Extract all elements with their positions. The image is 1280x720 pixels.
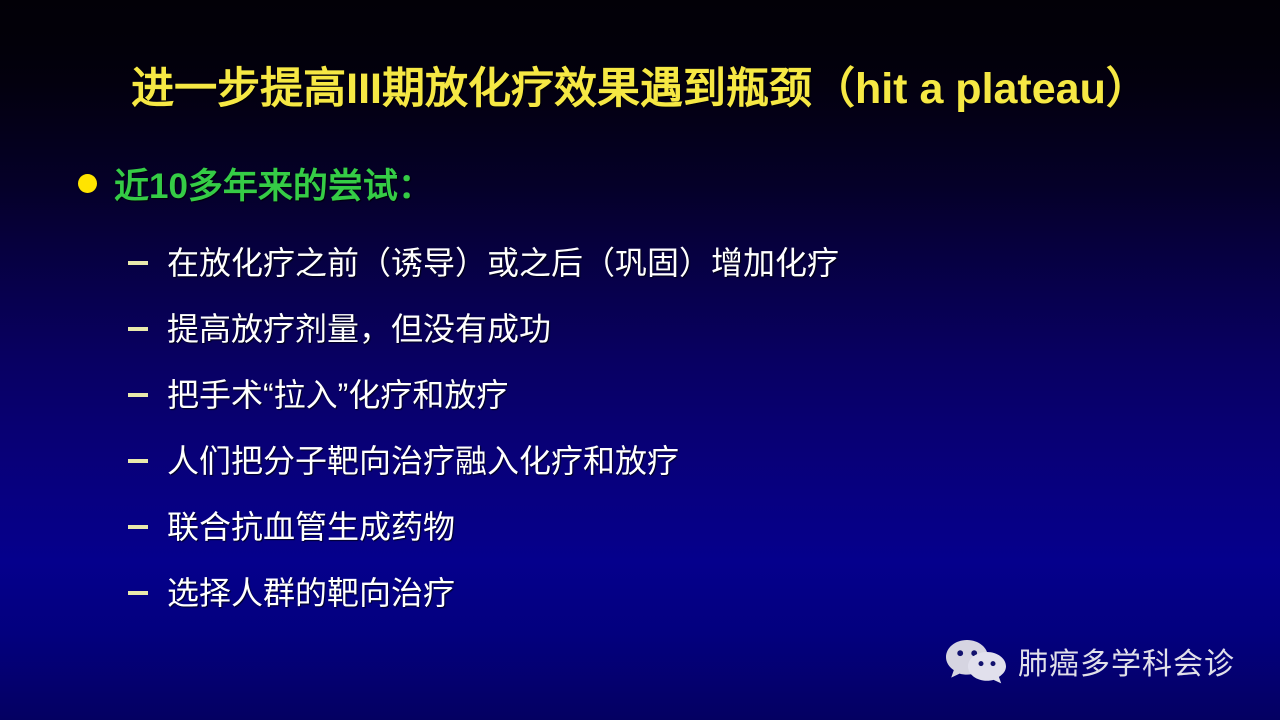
dash-bullet-icon bbox=[128, 459, 148, 463]
list-item-label: 选择人群的靶向治疗 bbox=[167, 568, 455, 614]
list-item: 在放化疗之前（诱导）或之后（巩固）增加化疗 bbox=[128, 228, 1128, 294]
list-item: 提高放疗剂量，但没有成功 bbox=[128, 294, 1128, 360]
dash-bullet-icon bbox=[128, 393, 148, 397]
list-item-label: 人们把分子靶向治疗融入化疗和放疗 bbox=[167, 436, 679, 482]
list-item: 选择人群的靶向治疗 bbox=[128, 558, 1128, 624]
dash-bullet-icon bbox=[128, 261, 148, 265]
wechat-logo-icon bbox=[946, 638, 1008, 684]
dash-bullet-icon bbox=[128, 525, 148, 529]
level1-bullet-label: 近10多年来的尝试： bbox=[114, 158, 433, 209]
sub-bullet-list: 在放化疗之前（诱导）或之后（巩固）增加化疗 提高放疗剂量，但没有成功 把手术“拉… bbox=[128, 228, 1128, 624]
wechat-watermark: 肺癌多学科会诊 bbox=[946, 638, 1235, 684]
level1-bullet-item: 近10多年来的尝试： bbox=[78, 158, 433, 209]
presentation-slide: 进一步提高III期放化疗效果遇到瓶颈（hit a plateau） 近10多年来… bbox=[0, 0, 1280, 720]
dash-bullet-icon bbox=[128, 327, 148, 331]
list-item-label: 提高放疗剂量，但没有成功 bbox=[167, 304, 551, 350]
list-item-label: 联合抗血管生成药物 bbox=[167, 502, 455, 548]
list-item-label: 把手术“拉入”化疗和放疗 bbox=[167, 370, 508, 416]
wechat-watermark-label: 肺癌多学科会诊 bbox=[1018, 639, 1235, 683]
list-item-label: 在放化疗之前（诱导）或之后（巩固）增加化疗 bbox=[167, 238, 839, 284]
list-item: 人们把分子靶向治疗融入化疗和放疗 bbox=[128, 426, 1128, 492]
filled-circle-bullet-icon bbox=[78, 174, 97, 193]
slide-title: 进一步提高III期放化疗效果遇到瓶颈（hit a plateau） bbox=[0, 54, 1280, 116]
list-item: 把手术“拉入”化疗和放疗 bbox=[128, 360, 1128, 426]
dash-bullet-icon bbox=[128, 591, 148, 595]
list-item: 联合抗血管生成药物 bbox=[128, 492, 1128, 558]
